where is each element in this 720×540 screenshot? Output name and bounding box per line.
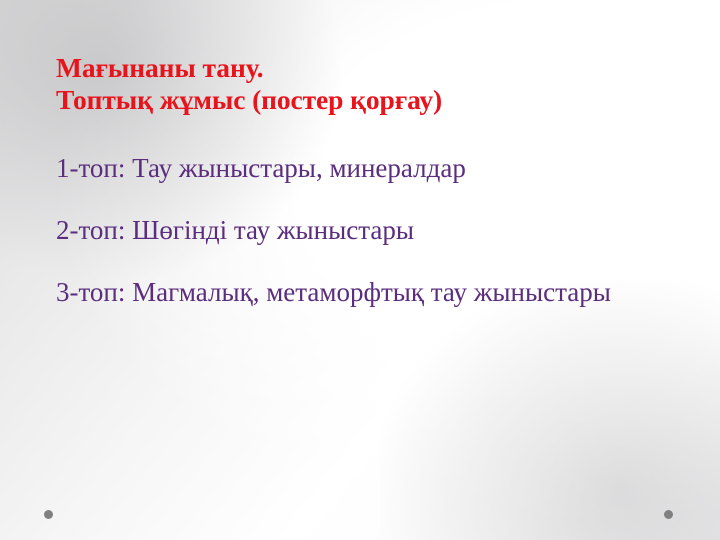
footer-dot-left-icon (44, 510, 53, 519)
slide-canvas: Мағынаны тану. Топтық жұмыс (постер қорғ… (0, 0, 720, 540)
group-item-2: 2-топ: Шөгінді тау жыныстары (56, 213, 636, 248)
background-gradient-bottom-right (380, 280, 720, 540)
title-line-2: Топтық жұмыс (постер қорғау) (56, 84, 668, 116)
slide-content: Мағынаны тану. Топтық жұмыс (постер қорғ… (56, 52, 668, 310)
title-line-1: Мағынаны тану. (56, 52, 668, 84)
footer-dot-right-icon (664, 510, 673, 519)
group-task-list: 1-топ: Тау жыныстары, минералдар 2-топ: … (56, 151, 668, 310)
slide-title: Мағынаны тану. Топтық жұмыс (постер қорғ… (56, 52, 668, 117)
group-item-1: 1-топ: Тау жыныстары, минералдар (56, 151, 636, 186)
group-item-3: 3-топ: Магмалық, метаморфтық тау жыныста… (56, 275, 636, 310)
